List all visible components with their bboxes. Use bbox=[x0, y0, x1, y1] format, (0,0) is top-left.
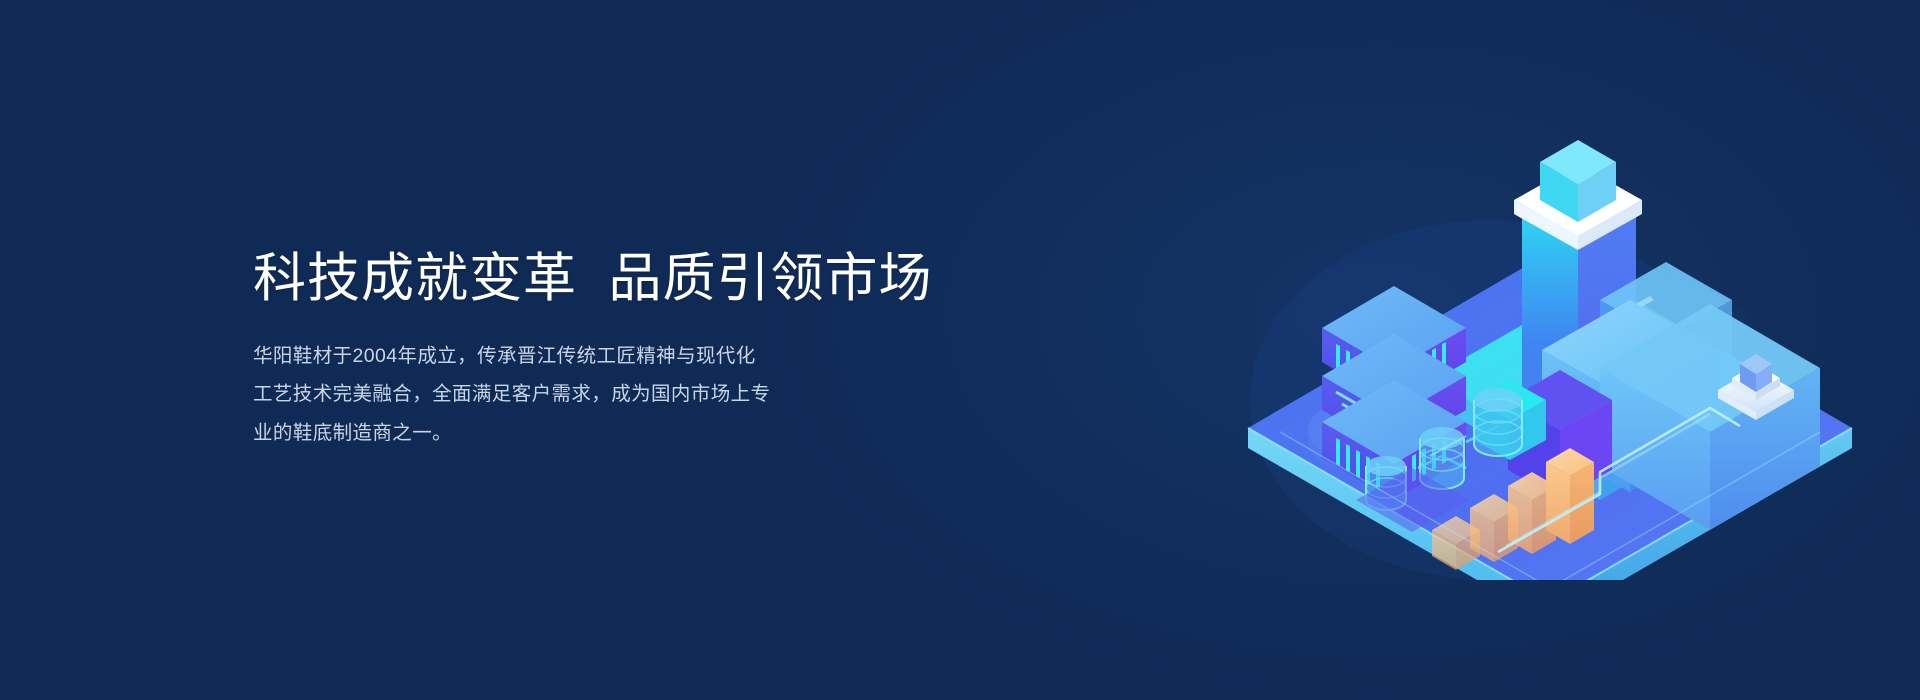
hero-description: 华阳鞋材于2004年成立，传承晋江传统工匠精神与现代化工艺技术完美融合，全面满足… bbox=[253, 337, 773, 451]
isometric-city-illustration bbox=[1130, 100, 1870, 580]
page-title: 科技成就变革 品质引领市场 bbox=[253, 248, 993, 309]
hero-copy-block: 科技成就变革 品质引领市场 华阳鞋材于2004年成立，传承晋江传统工匠精神与现代… bbox=[253, 248, 993, 452]
cylinder-tall bbox=[1474, 388, 1522, 456]
hero-banner: 科技成就变革 品质引领市场 华阳鞋材于2004年成立，传承晋江传统工匠精神与现代… bbox=[0, 0, 1920, 700]
bar-4 bbox=[1546, 448, 1594, 544]
